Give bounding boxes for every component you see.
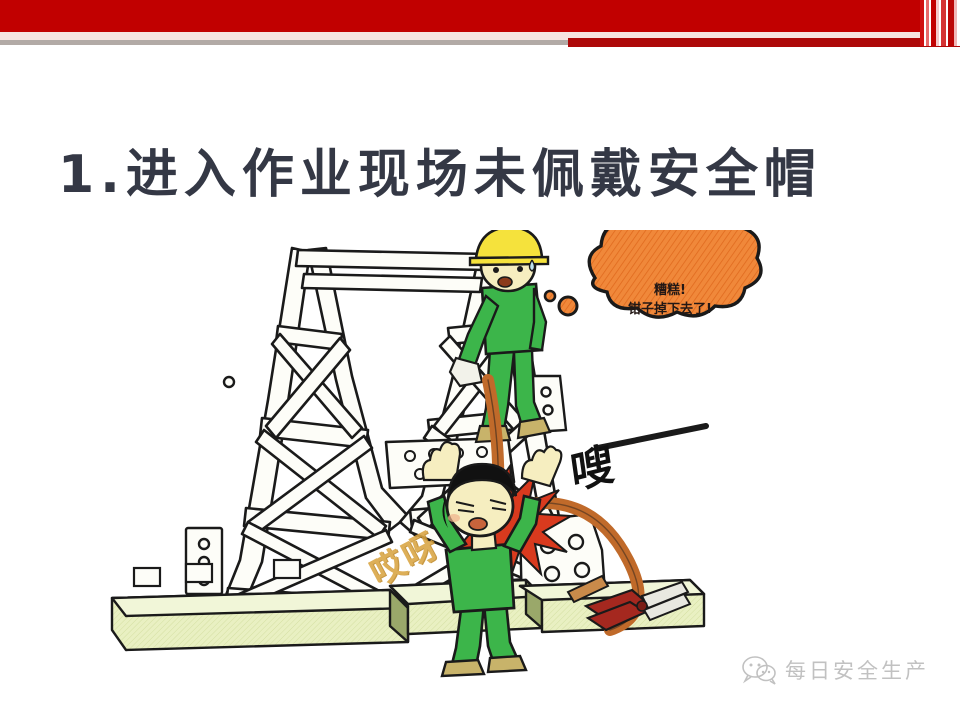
- header-accent-bar: [568, 38, 960, 47]
- leg-connection-plates: [186, 377, 234, 594]
- header-banner: [0, 0, 960, 52]
- wechat-icon: [742, 655, 776, 685]
- watermark: 每日安全生产: [742, 655, 929, 685]
- impact-pointer-line: [598, 426, 706, 448]
- construction-scene-svg: [90, 230, 790, 680]
- header-stripe-decoration: [920, 0, 960, 46]
- illustration-figure: [90, 230, 790, 680]
- watermark-text: 每日安全生产: [785, 655, 929, 685]
- sound-effect-whoosh: 嗖: [566, 427, 618, 501]
- speech-bubble: [545, 230, 761, 317]
- page-title: 1.进入作业现场未佩戴安全帽: [58, 132, 822, 207]
- slide-root: 1.进入作业现场未佩戴安全帽: [0, 0, 960, 720]
- header-red-band: [0, 0, 960, 32]
